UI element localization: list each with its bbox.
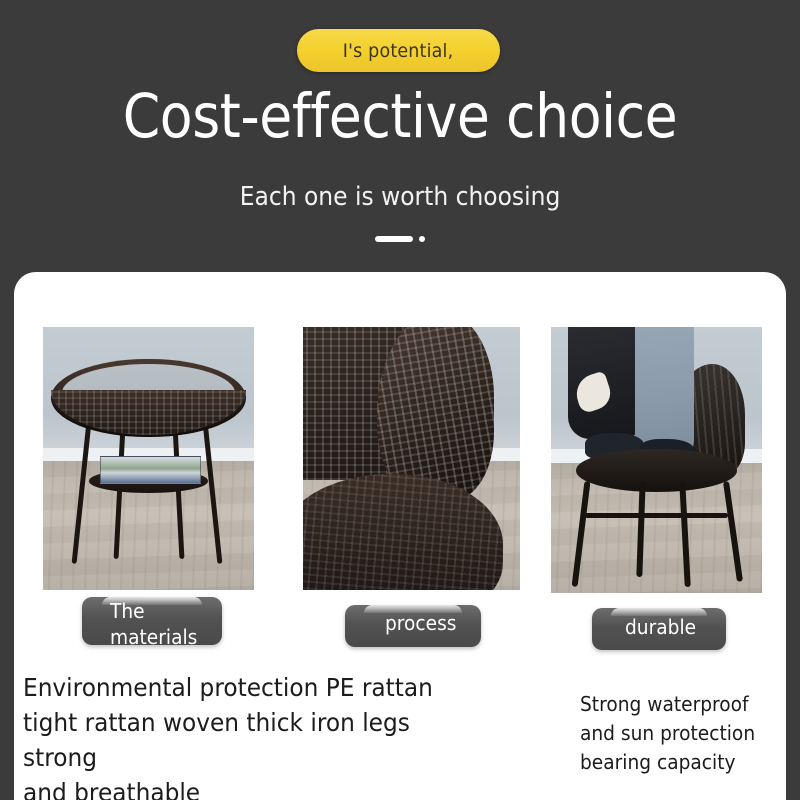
feature-tag-materials-label: The materials — [110, 598, 197, 650]
chair-stretcher — [585, 513, 728, 518]
description-left: Environmental protection PE rattan tight… — [23, 670, 479, 800]
hero-section: I's potential, Cost-effective choice Eac… — [0, 0, 800, 272]
divider-bar — [375, 236, 413, 242]
chair-seat — [576, 449, 736, 492]
feature-tag-process-label: process — [385, 610, 456, 636]
promo-badge: I's potential, — [297, 29, 500, 72]
feature-photo-materials — [43, 327, 254, 590]
divider-dot — [419, 236, 425, 242]
feature-photo-durable — [551, 327, 762, 593]
feature-photo-process — [303, 327, 520, 590]
person-jeans — [635, 327, 694, 455]
page-subtitle: Each one is worth choosing — [40, 180, 760, 214]
books-on-shelf — [100, 456, 201, 484]
promo-badge-label: I's potential, — [343, 40, 454, 62]
divider — [0, 236, 800, 242]
description-right: Strong waterproof and sun protection bea… — [580, 690, 780, 777]
page-title: Cost-effective choice — [48, 82, 752, 152]
feature-tag-durable-label: durable — [625, 614, 696, 640]
content-card: The materials process durable Environmen… — [14, 272, 786, 800]
